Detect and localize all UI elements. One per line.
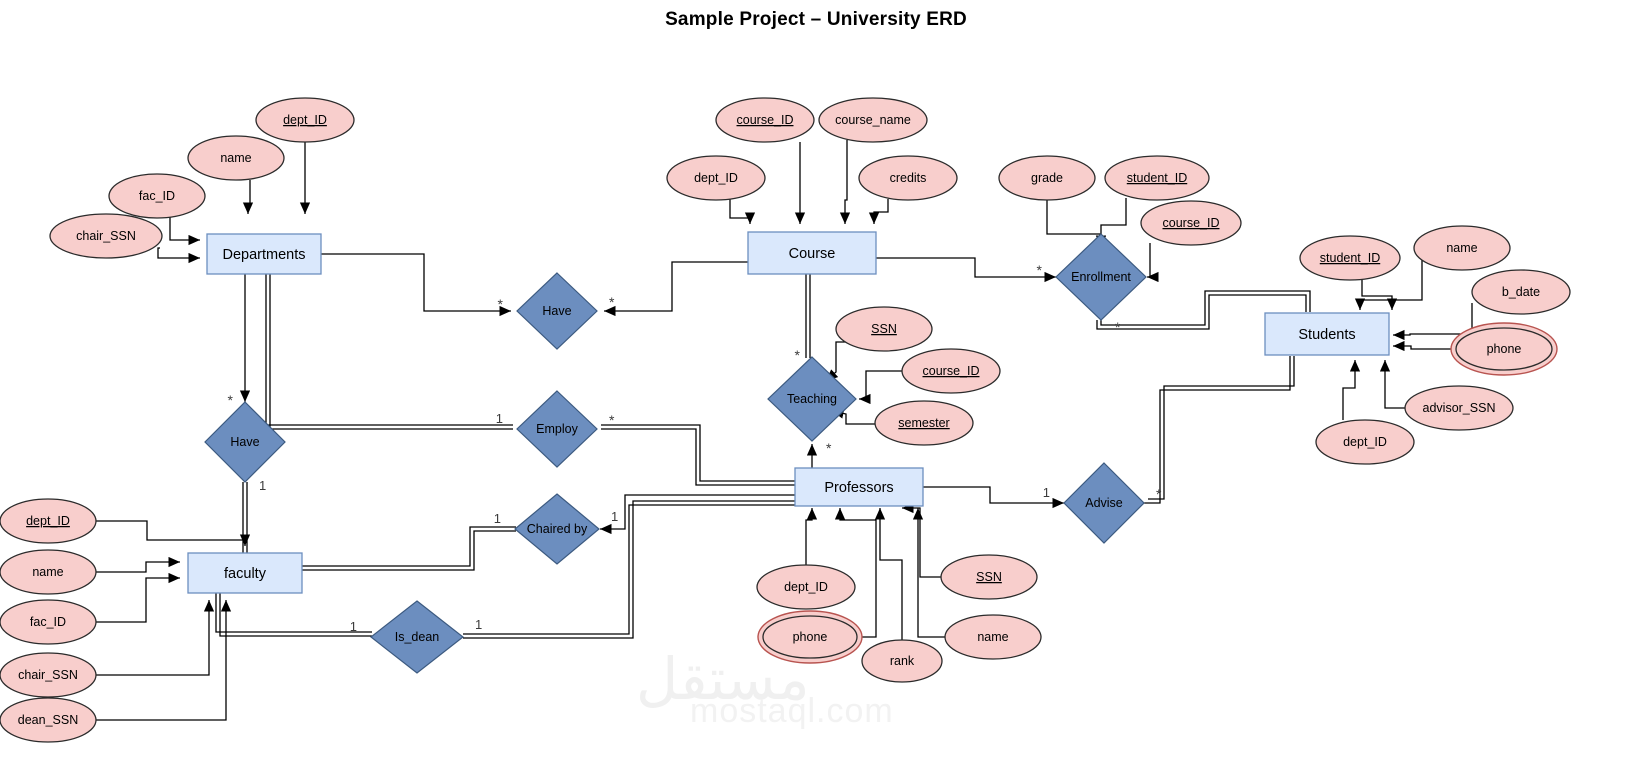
attribute-label: student_ID [1127,171,1187,185]
attribute-dept-name[interactable]: name [188,136,284,180]
cardinality-left: 1 [1043,485,1050,500]
relationship-is-dean[interactable]: Is_dean11 [350,601,482,673]
entity-students[interactable]: Students [1265,313,1389,355]
attribute-dept-chair-ssn[interactable]: chair_SSN [50,214,162,258]
cardinality-right: * [609,412,615,428]
attribute-label: dean_SSN [18,713,78,727]
attribute-stu-b-date[interactable]: b_date [1472,270,1570,314]
relationship-employ[interactable]: Employ1* [496,391,615,467]
cardinality-left: 1 [496,411,503,426]
attribute-label: name [1446,241,1477,255]
cardinality-right: * [609,294,615,310]
attribute-teach-ssn[interactable]: SSN [836,307,932,351]
attribute-label: dept_ID [694,171,738,185]
entity-label: faculty [224,566,267,582]
attribute-label: phone [1487,342,1522,356]
attribute-label: advisor_SSN [1423,401,1496,415]
attribute-label: rank [890,654,915,668]
attribute-teach-semester[interactable]: semester [875,401,973,445]
attribute-fac-fac-id[interactable]: fac_ID [0,600,96,644]
attribute-label: name [220,151,251,165]
relationship-teaching[interactable]: Teaching** [768,347,856,456]
attribute-label: SSN [871,322,897,336]
relationship-label: Employ [536,422,578,436]
attribute-label: grade [1031,171,1063,185]
entity-course[interactable]: Course [748,232,876,274]
attribute-label: course_name [835,113,911,127]
attribute-stu-advisor-ssn[interactable]: advisor_SSN [1405,386,1513,430]
attribute-stu-student-id[interactable]: student_ID [1300,236,1400,280]
attribute-course-course-id[interactable]: course_ID [716,98,814,142]
relationship-chaired-by[interactable]: Chaired by11 [494,494,618,564]
attribute-label: fac_ID [139,189,175,203]
attribute-label: chair_SSN [18,668,78,682]
cardinality-top: * [795,347,801,363]
attribute-label: credits [890,171,927,185]
entity-label: Course [789,246,836,262]
attribute-fac-dean-ssn[interactable]: dean_SSN [0,698,96,742]
cardinality-right: 1 [611,509,618,524]
attribute-enr-course-id[interactable]: course_ID [1141,201,1241,245]
relationship-label: Advise [1085,496,1123,510]
attribute-label: chair_SSN [76,229,136,243]
erd-canvas: Sample Project – University ERD [0,0,1632,771]
attribute-dept-fac-id[interactable]: fac_ID [109,174,205,218]
attribute-label: name [32,565,63,579]
cardinality-right: * [1156,486,1162,502]
attribute-label: fac_ID [30,615,66,629]
cardinality-bottom: * [826,440,832,456]
cardinality-bottom: * [1115,319,1121,335]
cardinality-left: * [1037,262,1043,278]
attribute-label: dept_ID [1343,435,1387,449]
attribute-label: b_date [1502,285,1540,299]
attribute-stu-name[interactable]: name [1414,226,1510,270]
attribute-label: semester [898,416,949,430]
attribute-teach-course-id[interactable]: course_ID [902,349,1000,393]
attribute-dept-dept-id[interactable]: dept_ID [256,98,354,142]
relationship-label: Have [542,304,571,318]
relationship-label: Is_dean [395,630,440,644]
attribute-prof-rank[interactable]: rank [862,640,942,682]
entity-departments[interactable]: Departments [207,234,321,274]
erd-diagram: dept_IDnamefac_IDchair_SSNcourse_IDcours… [0,0,1632,771]
attribute-enr-student-id[interactable]: student_ID [1105,156,1209,200]
attribute-stu-phone[interactable]: phone [1451,323,1557,375]
attribute-fac-dept-id[interactable]: dept_ID [0,499,96,543]
cardinality-left: 1 [494,511,501,526]
cardinality-left: 1 [350,619,357,634]
attribute-prof-ssn[interactable]: SSN [941,555,1037,599]
attribute-label: course_ID [737,113,794,127]
relationship-label: Chaired by [527,522,588,536]
attribute-fac-chair-ssn[interactable]: chair_SSN [0,653,96,697]
attribute-label: dept_ID [26,514,70,528]
cardinality-top: * [228,392,234,408]
attribute-label: course_ID [923,364,980,378]
attribute-label: dept_ID [283,113,327,127]
entity-faculty[interactable]: faculty [188,553,302,593]
attribute-label: name [977,630,1008,644]
attribute-course-credits[interactable]: credits [859,156,957,200]
attribute-prof-name[interactable]: name [945,615,1041,659]
attribute-label: SSN [976,570,1002,584]
relationship-enrollment[interactable]: Enrollment** [1037,234,1146,335]
attribute-label: course_ID [1163,216,1220,230]
attribute-prof-dept-id[interactable]: dept_ID [757,565,855,609]
attribute-label: dept_ID [784,580,828,594]
attribute-course-dept-id[interactable]: dept_ID [667,156,765,200]
attribute-prof-phone[interactable]: phone [758,611,862,663]
attribute-label: phone [793,630,828,644]
attribute-stu-dept-id[interactable]: dept_ID [1316,420,1414,464]
cardinality-right: 1 [475,617,482,632]
attribute-fac-name[interactable]: name [0,550,96,594]
attribute-label: student_ID [1320,251,1380,265]
entity-label: Students [1298,327,1355,343]
relationship-layer: Have**Enrollment**Teaching**Employ1*Have… [205,234,1162,673]
attribute-course-name[interactable]: course_name [819,98,927,142]
relationship-label: Enrollment [1071,270,1131,284]
cardinality-left: * [498,296,504,312]
relationship-label: Have [230,435,259,449]
relationship-have-fac-dept[interactable]: Have*1 [205,392,285,493]
entity-label: Departments [222,247,305,263]
entity-professors[interactable]: Professors [795,468,923,506]
cardinality-bottom: 1 [259,478,266,493]
entity-label: Professors [824,480,893,496]
relationship-have-dept-course[interactable]: Have** [498,273,615,349]
attribute-enr-grade[interactable]: grade [999,156,1095,200]
relationship-label: Teaching [787,392,837,406]
